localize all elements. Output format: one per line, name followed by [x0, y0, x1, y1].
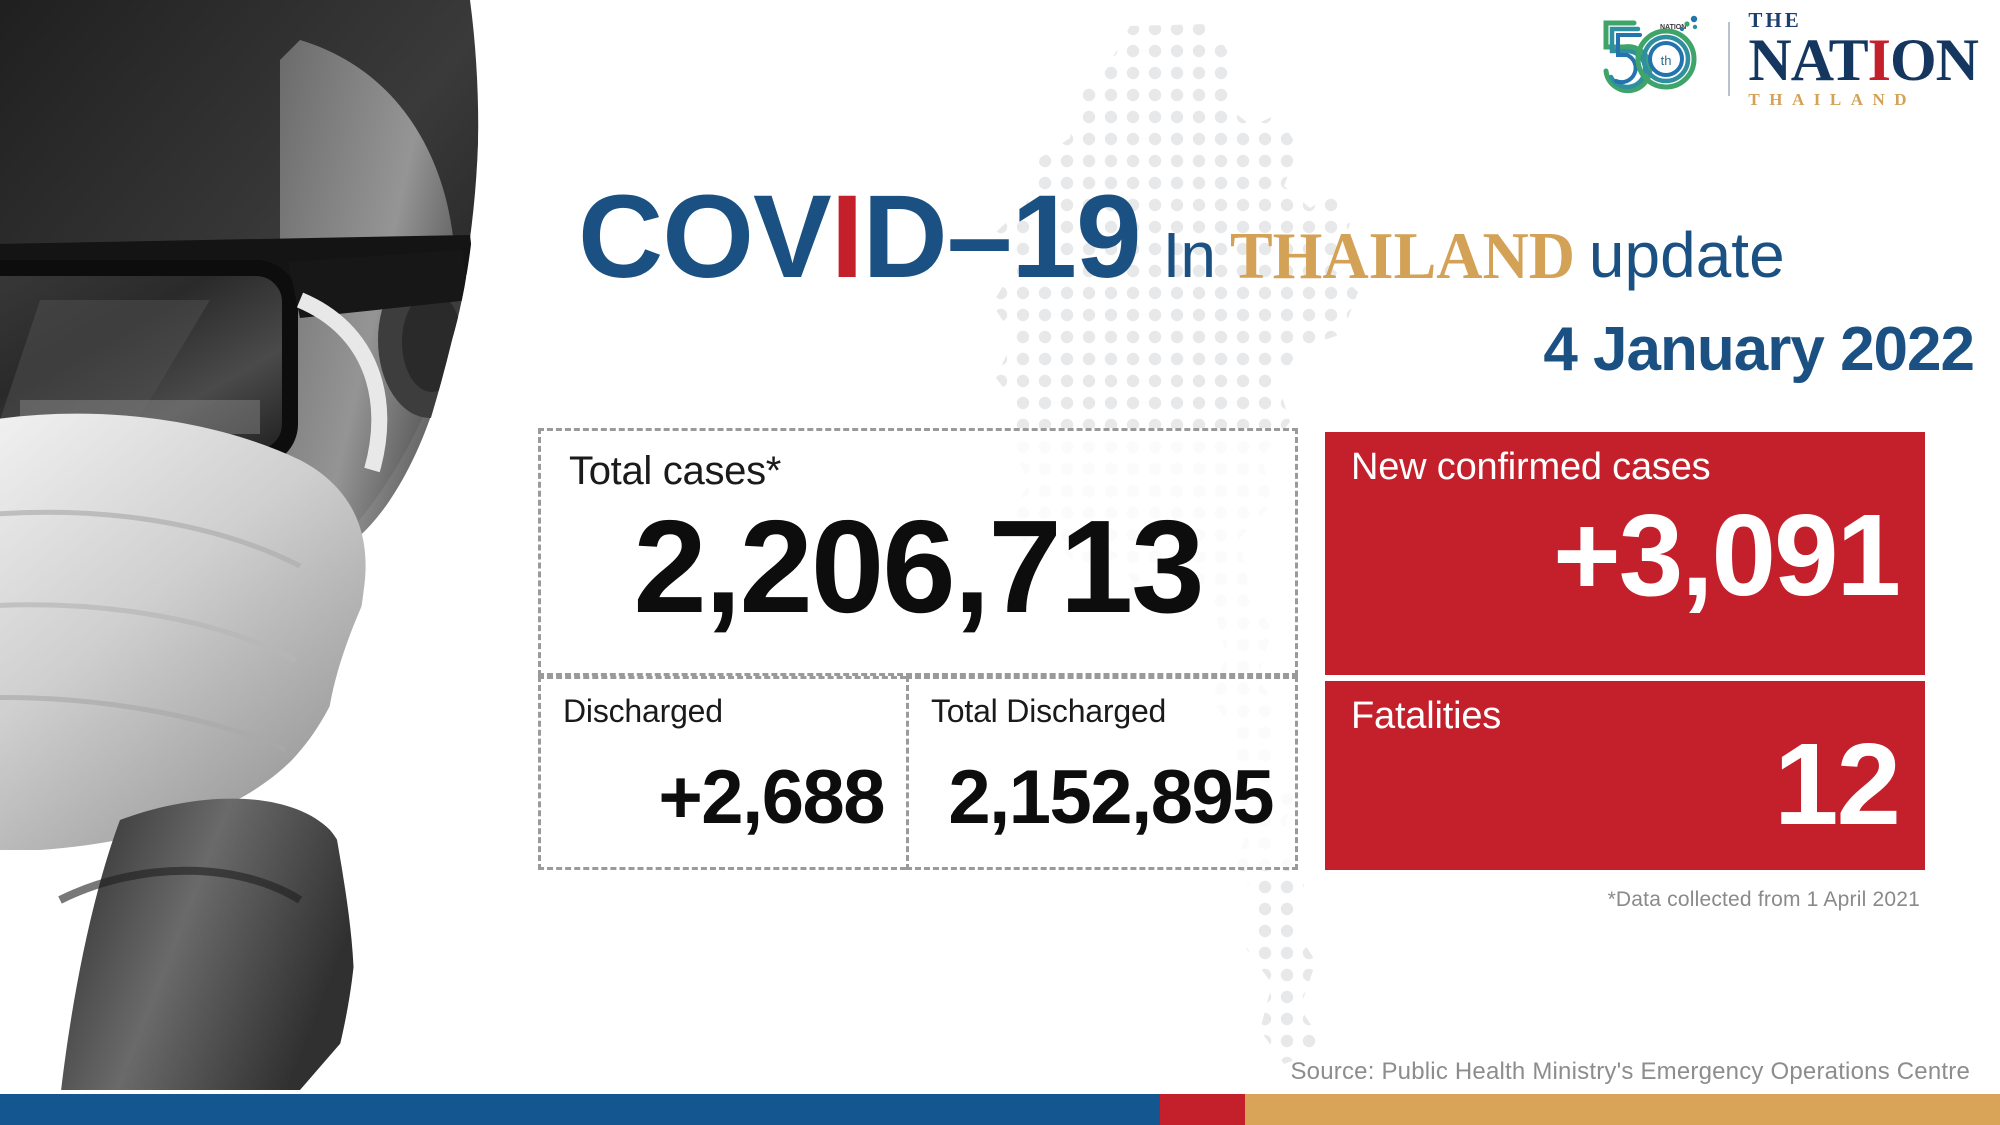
new-confirmed-cases-value: +3,091: [1351, 495, 1899, 617]
nation-spark-mark: NATION: [1660, 16, 1697, 31]
bottom-bar-gold-segment: [1245, 1094, 2000, 1125]
bottom-bar-blue-segment: [0, 1094, 1160, 1125]
covid-part2: D–19: [863, 171, 1141, 303]
discharged-card-row: Discharged +2,688 Total Discharged 2,152…: [538, 676, 1298, 870]
headline-thailand: THAILAND: [1230, 222, 1575, 289]
total-discharged-value: 2,152,895: [931, 754, 1273, 841]
total-discharged-label: Total Discharged: [931, 693, 1273, 730]
new-confirmed-cases-label: New confirmed cases: [1351, 446, 1899, 489]
total-cases-value: 2,206,713: [569, 496, 1267, 639]
discharged-card: Discharged +2,688: [538, 676, 906, 870]
headline-date: 4 January 2022: [578, 314, 1978, 385]
headline-in: In: [1163, 223, 1216, 287]
covid-wordmark: COVID–19: [578, 178, 1141, 296]
headline-line-1: COVID–19 In THAILAND update: [578, 178, 1978, 296]
fatalities-card: Fatalities 12: [1325, 681, 1925, 870]
wordmark-nation-part2: ON: [1890, 27, 1978, 93]
bottom-bar-red-segment: [1160, 1094, 1245, 1125]
total-cases-card: Total cases* 2,206,713: [538, 428, 1298, 676]
the-nation-thailand-wordmark: THE NATION THAILAND: [1748, 10, 1978, 108]
discharged-label: Discharged: [563, 693, 884, 730]
discharged-value: +2,688: [563, 754, 884, 841]
covid-part1: COV: [578, 171, 831, 303]
covid-red-i: I: [831, 171, 863, 303]
source-attribution: Source: Public Health Ministry's Emergen…: [1290, 1058, 1970, 1086]
logo-divider: [1728, 22, 1730, 96]
headline-block: COVID–19 In THAILAND update 4 January 20…: [578, 178, 1978, 385]
infographic-canvas: th NATION THE NATION THAILAND COVID–19 I…: [0, 0, 2000, 1125]
fiftieth-anniversary-logo: th NATION: [1594, 13, 1710, 105]
brand-logos: th NATION THE NATION THAILAND: [1594, 10, 1978, 108]
anniversary-th-label: th: [1661, 53, 1672, 68]
new-confirmed-cases-card: New confirmed cases +3,091: [1325, 432, 1925, 675]
wordmark-nation: NATION: [1748, 32, 1978, 88]
data-collected-footnote: *Data collected from 1 April 2021: [1608, 888, 1920, 912]
masked-person-photo: [0, 0, 545, 1100]
wordmark-nation-red-i: I: [1868, 27, 1890, 93]
total-cases-label: Total cases*: [569, 449, 1267, 494]
wordmark-nation-part1: NAT: [1748, 27, 1867, 93]
fatalities-value: 12: [1351, 724, 1899, 846]
headline-update: update: [1589, 223, 1785, 287]
wordmark-thailand: THAILAND: [1748, 91, 1916, 108]
bottom-color-bar: [0, 1094, 2000, 1125]
total-discharged-card: Total Discharged 2,152,895: [906, 676, 1298, 870]
